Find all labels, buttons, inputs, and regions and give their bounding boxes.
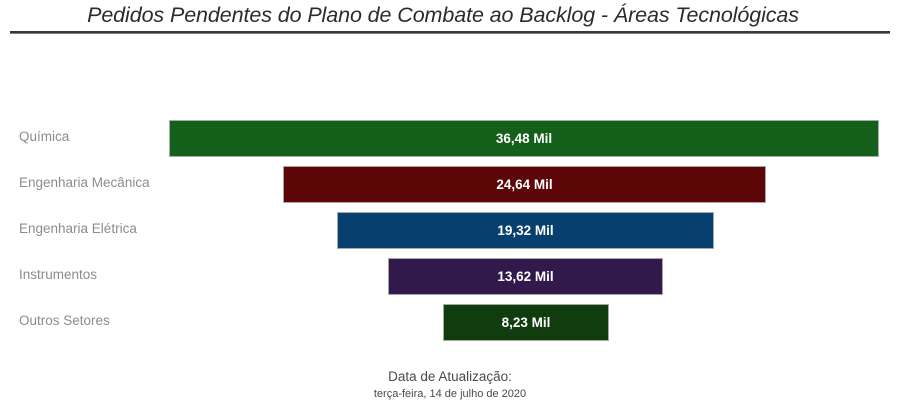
bar-row: Química 36,48 Mil — [0, 114, 900, 160]
page-title: Pedidos Pendentes do Plano de Combate ao… — [0, 3, 886, 28]
category-label: Instrumentos — [19, 252, 97, 298]
bar-row: Engenharia Mecânica 24,64 Mil — [0, 160, 900, 206]
title-divider — [10, 31, 890, 34]
bar-instrumentos[interactable]: 13,62 Mil — [388, 258, 663, 295]
category-label: Outros Setores — [19, 298, 110, 344]
update-label: Data de Atualização: — [0, 368, 900, 386]
bar-quimica[interactable]: 36,48 Mil — [169, 120, 879, 157]
bar-engenharia-mecanica[interactable]: 24,64 Mil — [283, 166, 766, 203]
update-date: terça-feira, 14 de julho de 2020 — [0, 386, 900, 402]
category-label: Engenharia Elétrica — [19, 206, 137, 252]
chart-header: Pedidos Pendentes do Plano de Combate ao… — [0, 0, 900, 40]
bar-value-label: 8,23 Mil — [444, 305, 608, 342]
bar-value-label: 13,62 Mil — [389, 259, 662, 296]
category-label: Química — [19, 114, 69, 160]
bar-engenharia-eletrica[interactable]: 19,32 Mil — [337, 212, 714, 249]
bar-value-label: 36,48 Mil — [170, 121, 878, 158]
category-label: Engenharia Mecânica — [19, 160, 150, 206]
bar-outros-setores[interactable]: 8,23 Mil — [443, 304, 609, 341]
bar-value-label: 19,32 Mil — [338, 213, 713, 250]
chart-plot-area: Química 36,48 Mil Engenharia Mecânica 24… — [0, 100, 900, 350]
bar-row: Outros Setores 8,23 Mil — [0, 298, 900, 344]
bar-row: Engenharia Elétrica 19,32 Mil — [0, 206, 900, 252]
bar-row: Instrumentos 13,62 Mil — [0, 252, 900, 298]
bar-value-label: 24,64 Mil — [284, 167, 765, 204]
chart-footer: Data de Atualização: terça-feira, 14 de … — [0, 368, 900, 402]
